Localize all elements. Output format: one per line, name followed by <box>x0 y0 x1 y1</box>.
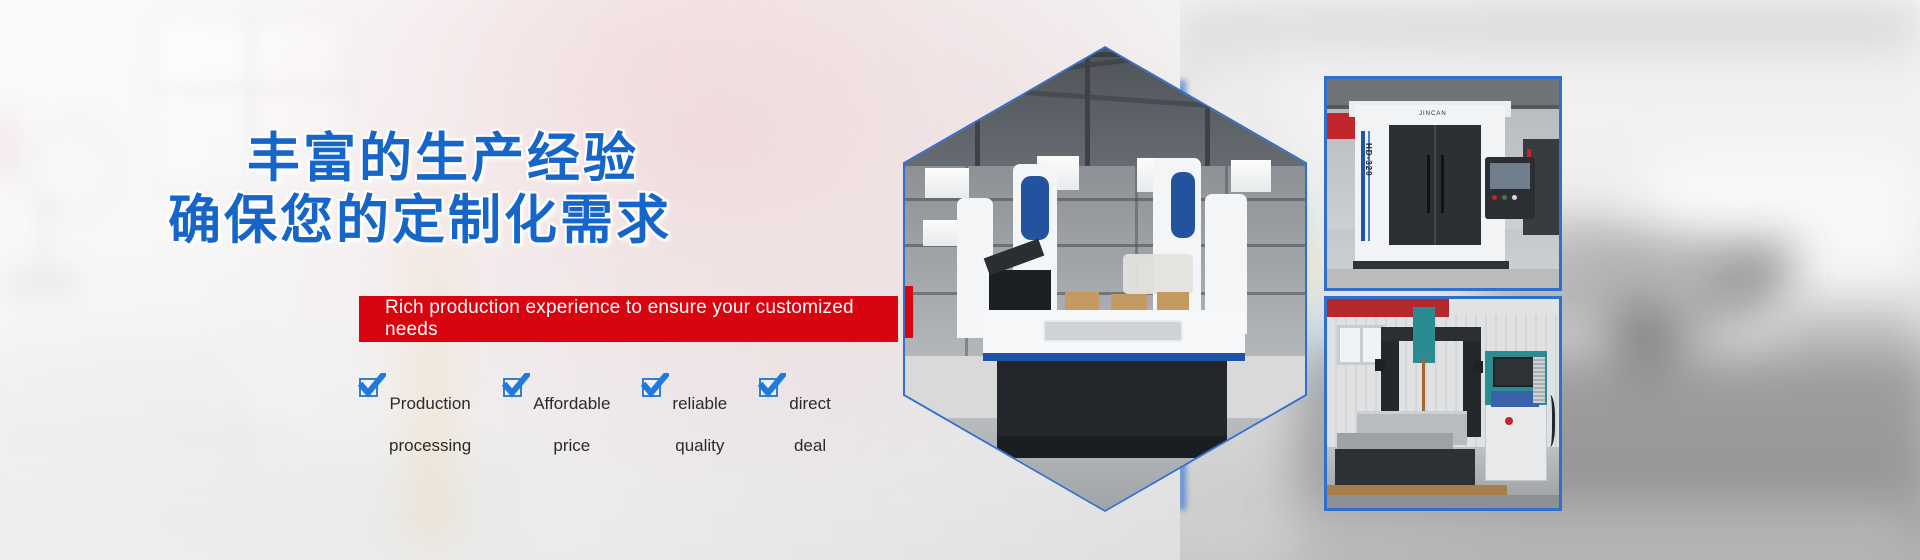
subtitle-bar: Rich production experience to ensure you… <box>359 296 898 342</box>
photo-window <box>923 220 961 246</box>
cnc-button <box>1502 195 1507 200</box>
photo-top-right: JINCAN HD-320 <box>1324 76 1562 291</box>
hexagon-photo-image <box>905 48 1305 510</box>
feature-label-line-2: processing <box>389 436 471 455</box>
feature-label: Affordable price <box>533 372 610 456</box>
feature-item-production-processing[interactable]: Production processing <box>359 372 471 456</box>
checkbox-checked-icon[interactable] <box>759 378 778 397</box>
feature-label-line-2: price <box>553 436 590 455</box>
photo-machine-base <box>997 348 1227 444</box>
edm-cutting-head <box>1413 307 1435 363</box>
photo-roof-edge <box>905 52 1305 57</box>
hero-banner: 丰富的生产经验 确保您的定制化需求 Rich production experi… <box>0 0 1920 560</box>
cnc-floor <box>1327 269 1559 291</box>
feature-label: direct deal <box>789 372 831 456</box>
headline-line-2: 确保您的定制化需求 <box>0 190 840 252</box>
feature-item-direct-deal[interactable]: direct deal <box>759 372 831 456</box>
cnc-button <box>1512 195 1517 200</box>
photo-carton <box>1157 292 1189 312</box>
photo-window <box>925 168 969 198</box>
photo-red-accent <box>905 286 913 338</box>
photo-column-panel <box>1171 172 1195 238</box>
edm-cable <box>1543 395 1555 447</box>
cnc-door-handle <box>1441 155 1444 213</box>
feature-label-line-1: reliable <box>672 394 727 413</box>
photo-wrapped-parts <box>1123 254 1193 294</box>
edm-monitor <box>1493 357 1537 387</box>
edm-emergency-stop-button <box>1505 417 1513 425</box>
feature-label-line-1: direct <box>789 394 831 413</box>
edm-floor <box>1327 495 1559 511</box>
cnc-door-handle <box>1427 155 1430 213</box>
checkbox-checked-icon[interactable] <box>642 378 661 397</box>
photo-machine-window <box>1043 320 1183 342</box>
feature-label-line-2: deal <box>794 436 826 455</box>
feature-label-line-1: Production <box>389 394 470 413</box>
subtitle-text: Rich production experience to ensure you… <box>385 297 898 341</box>
feature-label-line-1: Affordable <box>533 394 610 413</box>
edm-lamp <box>1375 359 1385 371</box>
photo-carton <box>1065 292 1099 312</box>
feature-label: reliable quality <box>672 372 727 456</box>
headline: 丰富的生产经验 确保您的定制化需求 <box>0 128 840 252</box>
cnc-model-label: HD-320 <box>1364 143 1373 177</box>
edm-lamp <box>1473 361 1483 373</box>
photo-machine-blue-trim <box>983 353 1245 361</box>
edm-window-mullion <box>1360 325 1363 365</box>
photo-window <box>1231 160 1271 192</box>
cnc-screen <box>1490 163 1530 189</box>
feature-item-affordable-price[interactable]: Affordable price <box>503 372 610 456</box>
photo-column-panel <box>1021 176 1049 240</box>
feature-label-line-2: quality <box>675 436 724 455</box>
cnc-brand-label: JINCAN <box>1419 111 1447 117</box>
feature-label: Production processing <box>389 372 471 456</box>
photo-bottom-right <box>1324 296 1562 511</box>
headline-line-1: 丰富的生产经验 <box>46 128 840 190</box>
feature-item-reliable-quality[interactable]: reliable quality <box>642 372 727 456</box>
photo-machine-base-shadow <box>997 436 1227 458</box>
checkbox-checked-icon[interactable] <box>503 378 522 397</box>
checkbox-checked-icon[interactable] <box>359 378 378 397</box>
edm-pallet <box>1327 485 1507 495</box>
cnc-door-split <box>1434 125 1436 245</box>
cnc-button <box>1492 195 1497 200</box>
feature-list: Production processing Affordable price <box>359 372 919 424</box>
hexagon-photo <box>903 46 1307 512</box>
edm-keypad <box>1491 391 1539 407</box>
